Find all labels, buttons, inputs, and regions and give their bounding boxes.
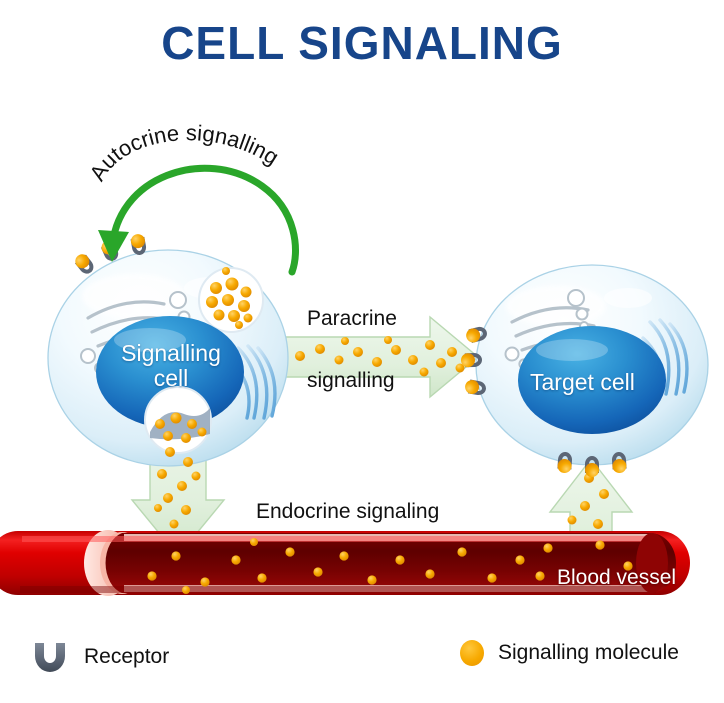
signalling-cell-label-line1: Signalling: [116, 341, 226, 366]
legend-item-molecule: Signalling molecule: [460, 640, 679, 666]
legend-label-molecule: Signalling molecule: [498, 641, 679, 665]
endocrine-label: Endocrine signaling: [256, 500, 439, 524]
secretory-vesicle: [199, 267, 263, 332]
paracrine-label-line1: Paracrine: [307, 307, 397, 331]
autocrine-label: Autocrine signalling: [84, 120, 283, 185]
signalling-molecule-icon: [460, 640, 484, 666]
legend-label-receptor: Receptor: [84, 645, 169, 669]
target-cell-label: Target cell: [530, 369, 635, 396]
blood-vessel-label: Blood vessel: [557, 566, 676, 590]
secretion-pocket: [145, 387, 211, 453]
cell-signaling-diagram: CELL SIGNALING: [0, 0, 724, 703]
signalling-cell-label: Signalling cell: [116, 341, 226, 391]
diagram-canvas: [0, 0, 724, 703]
paracrine-label-line2: signalling: [307, 369, 395, 393]
signalling-cell-label-line2: cell: [116, 366, 226, 391]
legend-item-receptor: Receptor: [30, 640, 169, 674]
receptor-icon: [30, 640, 70, 674]
autocrine-label-text: Autocrine signalling: [84, 120, 283, 185]
autocrine-label-wrap: Autocrine signalling: [92, 130, 322, 240]
